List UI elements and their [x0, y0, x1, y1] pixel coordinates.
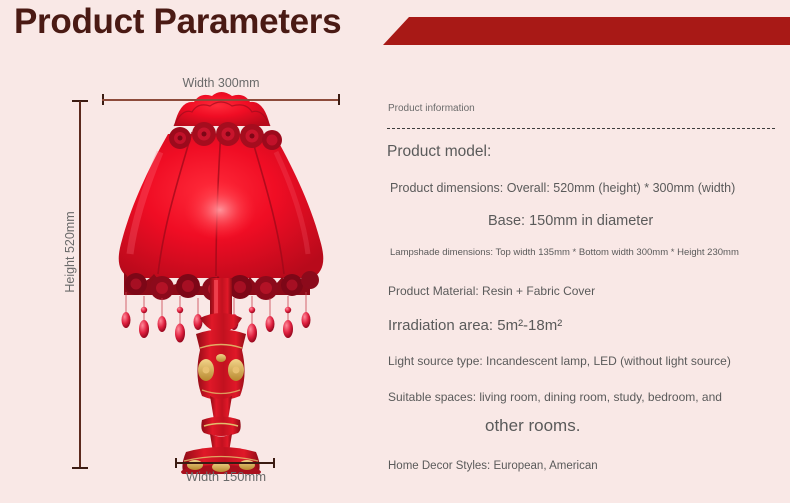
top-width-cap-right — [338, 94, 340, 105]
spec-light-source-type: Light source type: Incandescent lamp, LE… — [388, 354, 731, 368]
header-banner-decoration — [383, 17, 790, 45]
spec-irradiation-area: Irradiation area: 5m²-18m² — [388, 317, 562, 334]
spec-lampshade-dimensions: Lampshade dimensions: Top width 135mm * … — [390, 247, 739, 258]
product-photo-panel: Height 520mm Width 300mm Width 150mm — [0, 60, 375, 503]
top-width-measure-line — [102, 99, 340, 101]
height-dimension-label: Height 520mm — [63, 206, 77, 298]
spec-product-dimensions: Product dimensions: Overall: 520mm (heig… — [390, 181, 735, 195]
bottom-width-measure-line — [175, 462, 275, 464]
top-width-dimension-callout: Width 300mm — [100, 78, 342, 106]
spec-product-material: Product Material: Resin + Fabric Cover — [388, 284, 595, 298]
height-cap-bottom — [72, 467, 88, 469]
height-measure-line — [79, 101, 81, 469]
spec-base-diameter: Base: 150mm in diameter — [488, 213, 653, 229]
spec-suitable-spaces: Suitable spaces: living room, dining roo… — [388, 390, 722, 404]
spec-suitable-spaces-continued: other rooms. — [485, 416, 580, 436]
spec-product-model: Product model: — [387, 143, 491, 161]
bottom-width-dimension-label: Width 150mm — [146, 469, 306, 484]
spec-home-decor-styles: Home Decor Styles: European, American — [388, 460, 598, 472]
page-title: Product Parameters — [14, 2, 341, 42]
spec-section-heading: Product information — [388, 103, 475, 114]
product-information-panel: Product information Product model: Produ… — [380, 95, 780, 485]
height-dimension-callout: Height 520mm — [60, 100, 100, 470]
bottom-width-cap-right — [273, 458, 275, 468]
spec-divider — [387, 128, 775, 129]
page-header: Product Parameters — [0, 0, 790, 60]
product-image-table-lamp — [100, 82, 342, 474]
top-width-dimension-label: Width 300mm — [100, 76, 342, 90]
bottom-width-dimension-callout: Width 150mm — [172, 458, 280, 492]
